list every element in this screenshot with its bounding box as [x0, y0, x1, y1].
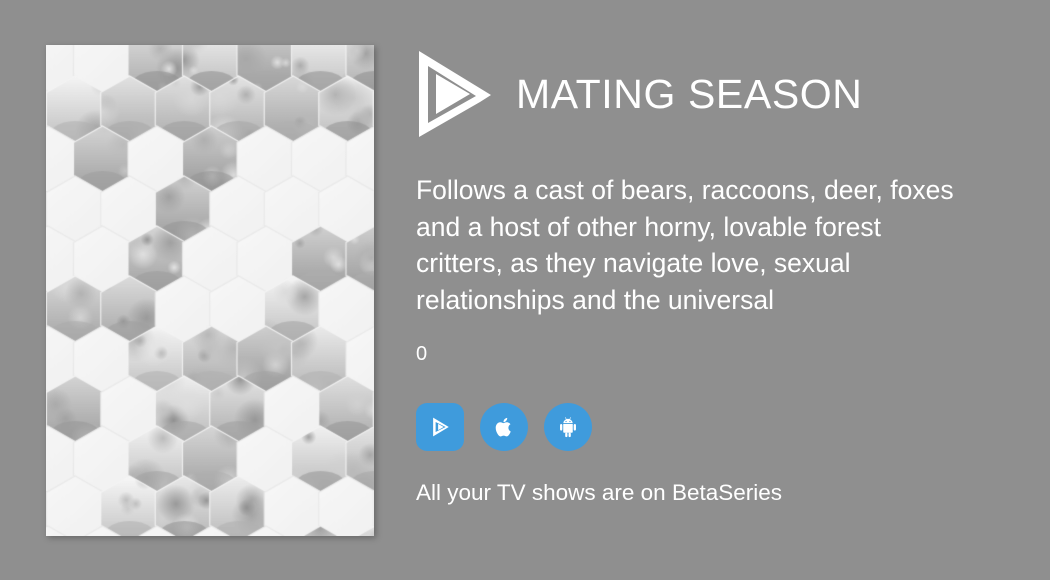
show-poster[interactable] — [46, 45, 374, 536]
footer-tagline: All your TV shows are on BetaSeries — [416, 479, 1016, 506]
apple-app-store-icon[interactable] — [480, 403, 528, 451]
show-description: Follows a cast of bears, raccoons, deer,… — [416, 172, 956, 318]
google-play-android-icon[interactable] — [544, 403, 592, 451]
app-links-row — [416, 403, 1016, 451]
betaseries-app-icon[interactable] — [416, 403, 464, 451]
title-row: MATING SEASON — [416, 44, 1016, 144]
show-info-panel: MATING SEASON Follows a cast of bears, r… — [416, 44, 1016, 544]
poster-honeycomb-pattern — [46, 45, 374, 536]
episode-count: 0 — [416, 344, 1016, 364]
page-title: MATING SEASON — [516, 74, 862, 115]
betaseries-play-logo-icon — [416, 49, 494, 139]
page-root: MATING SEASON Follows a cast of bears, r… — [0, 0, 1050, 580]
